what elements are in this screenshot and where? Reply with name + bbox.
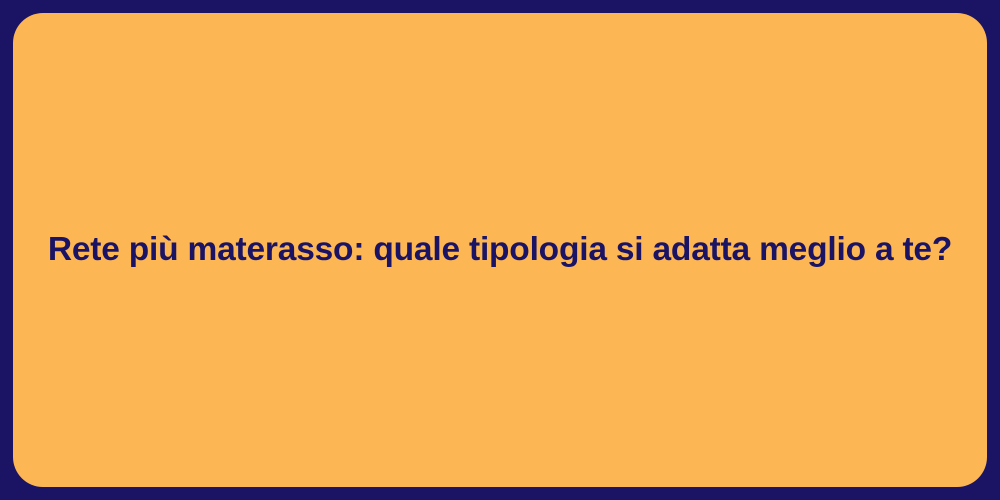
page-frame: Rete più materasso: quale tipologia si a…	[0, 0, 1000, 500]
headline-card: Rete più materasso: quale tipologia si a…	[13, 13, 987, 487]
page-title: Rete più materasso: quale tipologia si a…	[48, 229, 952, 271]
